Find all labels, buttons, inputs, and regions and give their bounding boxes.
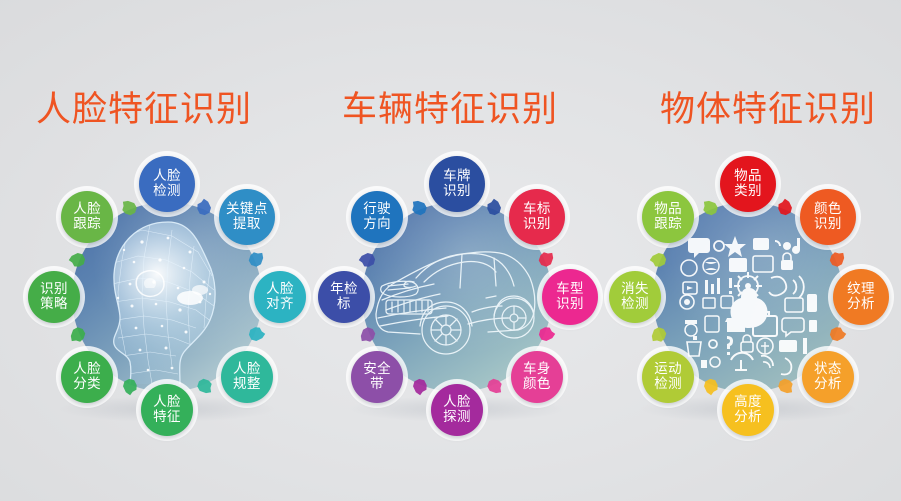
badge-label-line: 人脸 xyxy=(73,362,101,377)
badge-object-2[interactable]: 纹理分析 xyxy=(833,269,889,325)
badge-label: 车身颜色 xyxy=(523,362,551,392)
badge-label-line: 行驶 xyxy=(363,202,391,217)
badge-face-2[interactable]: 人脸对齐 xyxy=(254,271,306,323)
badge-label-line: 识别 xyxy=(814,217,842,232)
badge-label: 颜色识别 xyxy=(814,202,842,232)
badge-face-7[interactable]: 人脸跟踪 xyxy=(61,191,113,243)
badge-label-line: 状态 xyxy=(814,362,842,377)
badge-label: 安全带 xyxy=(363,362,391,392)
badge-label-line: 车牌 xyxy=(443,169,471,184)
badge-vehicle-2[interactable]: 车型识别 xyxy=(542,269,598,325)
badge-label-line: 人脸 xyxy=(73,202,101,217)
badge-object-7[interactable]: 物品跟踪 xyxy=(642,191,694,243)
badge-vehicle-6[interactable]: 年检标 xyxy=(318,271,370,323)
badge-label-line: 检测 xyxy=(621,297,649,312)
badge-face-4[interactable]: 人脸特征 xyxy=(141,384,193,436)
badge-label-line: 分析 xyxy=(814,377,842,392)
badge-label: 物品跟踪 xyxy=(654,202,682,232)
badge-label-line: 车型 xyxy=(556,282,584,297)
badge-vehicle-0[interactable]: 车牌识别 xyxy=(429,156,485,212)
badge-label-line: 安全 xyxy=(363,362,391,377)
badge-label: 识别策略 xyxy=(40,282,68,312)
badge-vehicle-7[interactable]: 行驶方向 xyxy=(351,191,403,243)
badge-label-line: 人脸 xyxy=(233,362,261,377)
badge-label: 人脸分类 xyxy=(73,362,101,392)
badge-label: 人脸特征 xyxy=(153,395,181,425)
title-row: 人脸特征识别 车辆特征识别 物体特征识别 xyxy=(0,84,901,140)
badge-label: 车标识别 xyxy=(523,202,551,232)
badge-vehicle-4[interactable]: 人脸探测 xyxy=(431,384,483,436)
section-title-object: 物体特征识别 xyxy=(618,84,901,140)
badge-label-line: 识别 xyxy=(523,217,551,232)
badge-label-line: 年检 xyxy=(330,282,358,297)
badge-label-line: 分类 xyxy=(73,377,101,392)
badge-object-6[interactable]: 消失检测 xyxy=(609,271,661,323)
badge-label-line: 类别 xyxy=(734,184,762,199)
badge-label-line: 车身 xyxy=(523,362,551,377)
badge-label: 消失检测 xyxy=(621,282,649,312)
badge-label-line: 人脸 xyxy=(266,282,294,297)
badge-label-line: 跟踪 xyxy=(73,217,101,232)
badge-label-line: 高度 xyxy=(734,395,762,410)
badge-label-line: 车标 xyxy=(523,202,551,217)
badge-label-line: 规整 xyxy=(233,377,261,392)
badge-label: 关键点提取 xyxy=(226,202,268,232)
badge-label: 人脸跟踪 xyxy=(73,202,101,232)
badge-vehicle-1[interactable]: 车标识别 xyxy=(509,189,565,245)
badge-label-line: 识别 xyxy=(556,297,584,312)
badge-label-line: 提取 xyxy=(226,217,268,232)
badge-object-5[interactable]: 运动检测 xyxy=(642,351,694,403)
badge-label-line: 识别 xyxy=(40,282,68,297)
badge-label-line: 方向 xyxy=(363,217,391,232)
badge-vehicle-5[interactable]: 安全带 xyxy=(351,351,403,403)
badge-label-line: 跟踪 xyxy=(654,217,682,232)
badge-label-line: 分析 xyxy=(847,297,875,312)
badge-label: 纹理分析 xyxy=(847,282,875,312)
badge-label: 人脸对齐 xyxy=(266,282,294,312)
badge-label-line: 检测 xyxy=(654,377,682,392)
badge-object-1[interactable]: 颜色识别 xyxy=(800,189,856,245)
badge-object-4[interactable]: 高度分析 xyxy=(722,384,774,436)
badge-label-line: 颜色 xyxy=(814,202,842,217)
badge-label-line: 物品 xyxy=(654,202,682,217)
badge-label-line: 人脸 xyxy=(153,169,181,184)
badge-label-line: 颜色 xyxy=(523,377,551,392)
badge-label-line: 标 xyxy=(330,297,358,312)
badge-label: 人脸检测 xyxy=(153,169,181,199)
badge-face-6[interactable]: 识别策略 xyxy=(28,271,80,323)
badge-face-1[interactable]: 关键点提取 xyxy=(219,189,275,245)
section-title-vehicle: 车辆特征识别 xyxy=(300,84,600,140)
badge-face-5[interactable]: 人脸分类 xyxy=(61,351,113,403)
badge-label: 年检标 xyxy=(330,282,358,312)
badge-label-line: 特征 xyxy=(153,410,181,425)
cluster-object: 物品类别颜色识别纹理分析状态分析高度分析运动检测消失检测物品跟踪 xyxy=(603,152,893,442)
badge-label-line: 对齐 xyxy=(266,297,294,312)
badge-face-0[interactable]: 人脸检测 xyxy=(139,156,195,212)
badge-label-line: 物品 xyxy=(734,169,762,184)
badge-label-line: 纹理 xyxy=(847,282,875,297)
badge-label-line: 识别 xyxy=(443,184,471,199)
badge-label: 状态分析 xyxy=(814,362,842,392)
cluster-vehicle: 车牌识别车标识别车型识别车身颜色人脸探测安全带年检标行驶方向 xyxy=(312,152,602,442)
badge-label-line: 探测 xyxy=(443,410,471,425)
infographic-stage: 人脸特征识别 车辆特征识别 物体特征识别 xyxy=(0,0,901,501)
badge-label-line: 人脸 xyxy=(443,395,471,410)
badge-vehicle-3[interactable]: 车身颜色 xyxy=(511,351,563,403)
badge-label-line: 分析 xyxy=(734,410,762,425)
badge-label: 运动检测 xyxy=(654,362,682,392)
badge-label-line: 运动 xyxy=(654,362,682,377)
badge-label-line: 带 xyxy=(363,377,391,392)
badge-label-line: 策略 xyxy=(40,297,68,312)
badge-label: 人脸探测 xyxy=(443,395,471,425)
cluster-face: 人脸检测关键点提取人脸对齐人脸规整人脸特征人脸分类识别策略人脸跟踪 xyxy=(22,152,312,442)
badge-label-line: 检测 xyxy=(153,184,181,199)
badge-label: 人脸规整 xyxy=(233,362,261,392)
badge-label: 行驶方向 xyxy=(363,202,391,232)
badge-face-3[interactable]: 人脸规整 xyxy=(221,351,273,403)
badge-label: 车型识别 xyxy=(556,282,584,312)
badge-label: 高度分析 xyxy=(734,395,762,425)
badge-object-0[interactable]: 物品类别 xyxy=(720,156,776,212)
badge-label-line: 人脸 xyxy=(153,395,181,410)
badge-label-line: 关键点 xyxy=(226,202,268,217)
badge-object-3[interactable]: 状态分析 xyxy=(802,351,854,403)
badge-label: 物品类别 xyxy=(734,169,762,199)
section-title-face: 人脸特征识别 xyxy=(0,84,294,140)
badge-label: 车牌识别 xyxy=(443,169,471,199)
badge-label-line: 消失 xyxy=(621,282,649,297)
